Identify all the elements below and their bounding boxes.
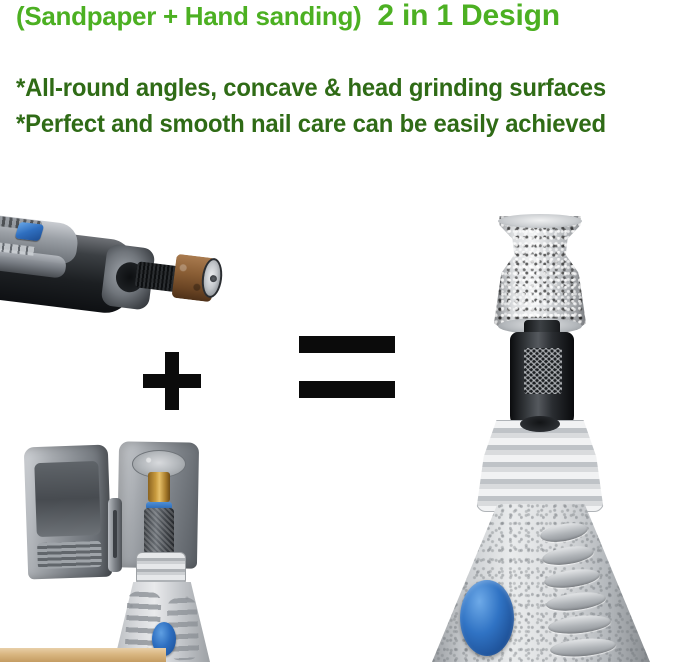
- plus-icon: [143, 352, 201, 410]
- feature-bullet-1: *All-round angles, concave & head grindi…: [16, 74, 606, 103]
- collet-knurl-texture: [524, 348, 562, 394]
- clamshell-left-fins: [37, 541, 102, 569]
- grinding-bit-top-rim: [498, 214, 582, 228]
- grip-pad: [547, 613, 611, 636]
- clamshell-left-jaw: [24, 445, 113, 580]
- product-feature-image: (Sandpaper + Hand sanding) 2 in 1 Design…: [0, 0, 679, 662]
- headline-row: (Sandpaper + Hand sanding) 2 in 1 Design: [0, 0, 679, 36]
- clamshell-hinge: [108, 498, 122, 572]
- feature-bullet-2: *Perfect and smooth nail care can be eas…: [16, 110, 606, 139]
- threaded-collar: [136, 552, 186, 586]
- clamshell-attachment-photo: [26, 440, 246, 662]
- rotary-tool-photo: [0, 196, 236, 336]
- threaded-collar-rings: [476, 420, 604, 512]
- wooden-table-surface: [0, 648, 166, 662]
- grip-pad: [549, 636, 616, 659]
- grinder-power-button: [460, 580, 514, 656]
- plus-icon-vertical-bar: [165, 352, 179, 410]
- diamond-concave-grinding-bit: [494, 216, 586, 330]
- equals-icon-bottom-bar: [299, 381, 395, 398]
- assembled-grinder-photo: [398, 206, 679, 662]
- brass-mandrel: [148, 472, 170, 502]
- grip-pad: [543, 566, 601, 591]
- headline-2-in-1-design: 2 in 1 Design: [377, 0, 559, 33]
- clamshell-left-cavity: [34, 461, 101, 537]
- grip-pad: [545, 589, 607, 613]
- knurled-collet: [144, 508, 174, 554]
- grip-pad: [541, 543, 595, 568]
- equals-icon-top-bar: [299, 336, 395, 353]
- rotary-tool-power-switch: [15, 222, 45, 242]
- grip-pad: [539, 520, 589, 545]
- equals-icon: [299, 336, 395, 398]
- collar-bore-opening: [520, 416, 560, 432]
- grinder-grip-pad-group: [538, 524, 614, 658]
- headline-sandpaper-hand-sanding: (Sandpaper + Hand sanding): [16, 1, 361, 32]
